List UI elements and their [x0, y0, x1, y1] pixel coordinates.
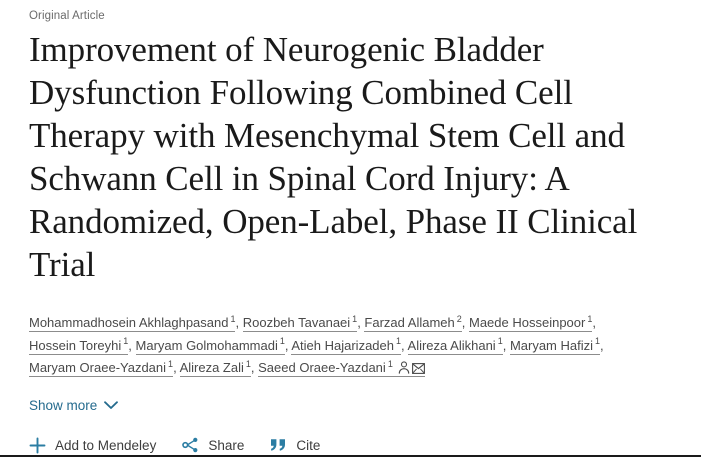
article-type-label: Original Article — [29, 8, 683, 24]
author-name: Hossein Toreyhi — [29, 338, 121, 353]
author-link[interactable]: Maede Hosseinpoor1 — [469, 315, 592, 332]
author-affiliation-marker[interactable]: 1 — [386, 359, 393, 369]
share-label: Share — [208, 438, 244, 453]
author-link[interactable]: Roozbeh Tavanaei1 — [243, 315, 357, 332]
quote-icon — [270, 438, 287, 452]
author-separator: , — [235, 315, 242, 330]
author-name: Alireza Alikhani — [408, 338, 496, 353]
author-link[interactable]: Maryam Oraee-Yazdani1 — [29, 360, 173, 377]
author-affiliation-marker[interactable]: 1 — [244, 359, 251, 369]
cite-label: Cite — [296, 438, 320, 453]
author-affiliation-marker[interactable]: 2 — [455, 314, 462, 324]
chevron-down-icon — [104, 401, 118, 410]
author-link[interactable]: Maryam Golmohammadi1 — [136, 338, 285, 355]
author-link[interactable]: Atieh Hajarizadeh1 — [291, 338, 401, 355]
author-name: Maede Hosseinpoor — [469, 315, 585, 330]
envelope-icon[interactable] — [412, 363, 425, 374]
author-link[interactable]: Mohammadhosein Akhlaghpasand1 — [29, 315, 235, 332]
author-affiliation-marker[interactable]: 1 — [394, 336, 401, 346]
author-name: Saeed Oraee-Yazdani — [258, 360, 386, 375]
show-more-label: Show more — [29, 398, 97, 413]
author-affiliation-marker[interactable]: 1 — [278, 336, 285, 346]
person-icon[interactable] — [398, 361, 410, 374]
add-to-mendeley-label: Add to Mendeley — [55, 438, 156, 453]
author-name: Farzad Allameh — [364, 315, 454, 330]
author-link[interactable]: Alireza Alikhani1 — [408, 338, 503, 355]
share-button[interactable]: Share — [182, 437, 244, 453]
author-separator: , — [128, 338, 135, 353]
author-name: Roozbeh Tavanaei — [243, 315, 350, 330]
author-link[interactable]: Saeed Oraee-Yazdani1 — [258, 360, 425, 377]
author-separator: , — [462, 315, 469, 330]
author-list: Mohammadhosein Akhlaghpasand1, Roozbeh T… — [29, 312, 683, 380]
author-link[interactable]: Maryam Hafizi1 — [510, 338, 600, 355]
author-name: Mohammadhosein Akhlaghpasand — [29, 315, 228, 330]
share-icon — [182, 437, 199, 453]
author-name: Maryam Hafizi — [510, 338, 593, 353]
author-name: Alireza Zali — [180, 360, 244, 375]
author-name: Atieh Hajarizadeh — [291, 338, 394, 353]
article-action-bar: Add to Mendeley Share — [29, 437, 683, 454]
author-affiliation-marker[interactable]: 1 — [593, 336, 600, 346]
show-more-button[interactable]: Show more — [29, 398, 118, 413]
author-affiliation-marker[interactable]: 1 — [496, 336, 503, 346]
author-link[interactable]: Alireza Zali1 — [180, 360, 251, 377]
author-separator: , — [592, 315, 596, 330]
cite-button[interactable]: Cite — [270, 438, 320, 453]
corresponding-author-icons — [393, 357, 425, 380]
author-affiliation-marker[interactable]: 1 — [166, 359, 173, 369]
add-to-mendeley-button[interactable]: Add to Mendeley — [29, 437, 156, 454]
page-title: Improvement of Neurogenic Bladder Dysfun… — [29, 28, 674, 286]
author-link[interactable]: Hossein Toreyhi1 — [29, 338, 128, 355]
author-separator: , — [600, 338, 604, 353]
author-separator: , — [503, 338, 510, 353]
author-link[interactable]: Farzad Allameh2 — [364, 315, 461, 332]
plus-icon — [29, 437, 46, 454]
author-name: Maryam Golmohammadi — [136, 338, 278, 353]
author-name: Maryam Oraee-Yazdani — [29, 360, 166, 375]
article-header-panel: Original Article Improvement of Neurogen… — [0, 0, 701, 457]
